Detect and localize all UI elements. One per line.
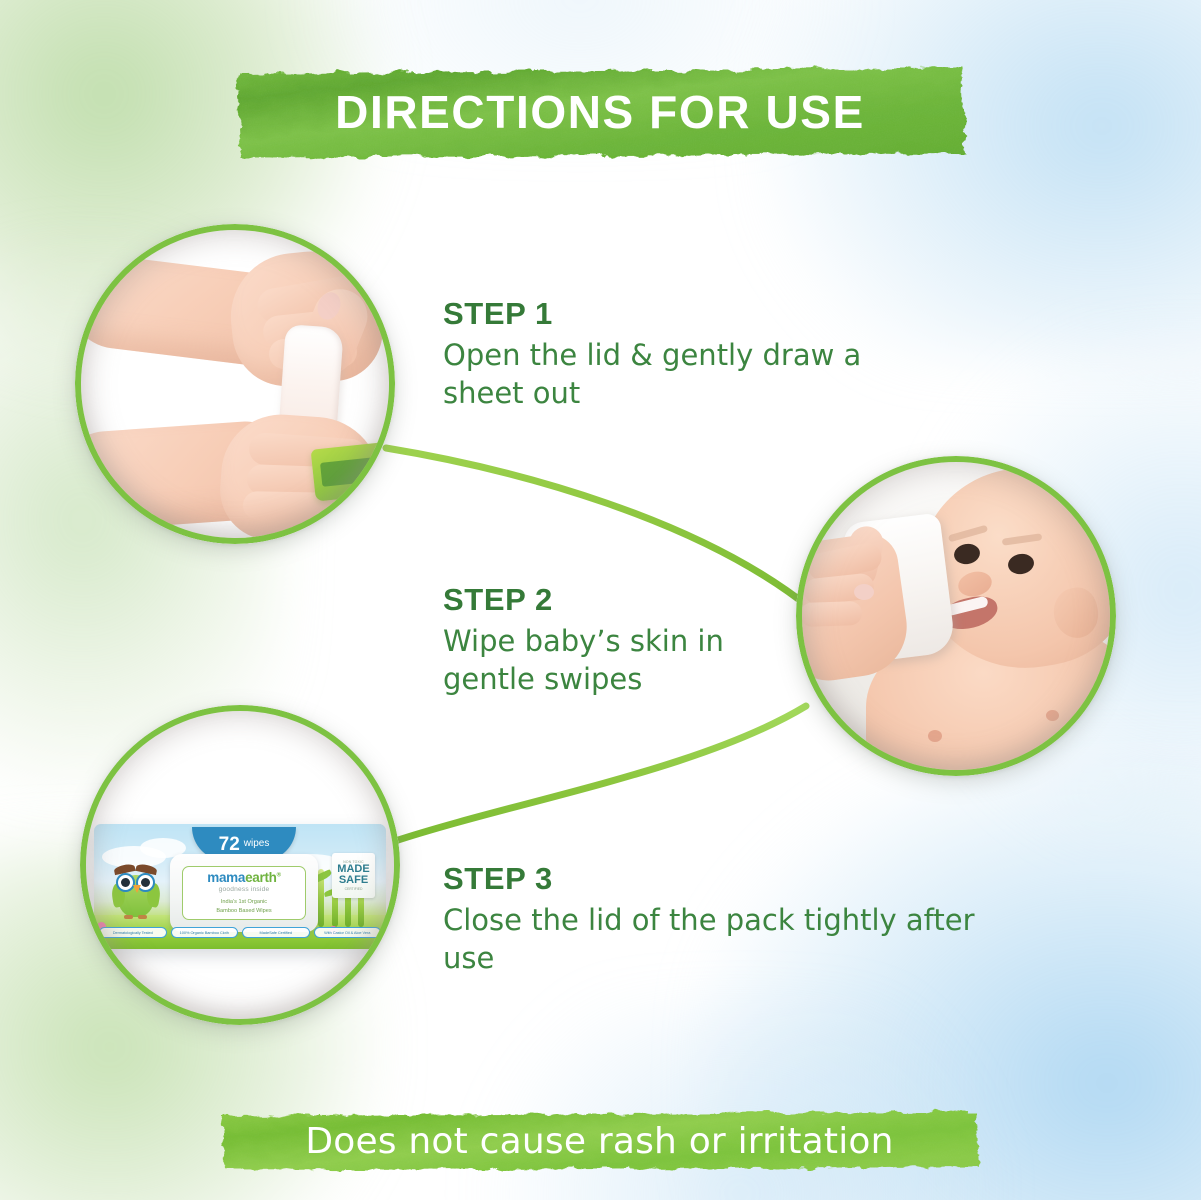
brand-name-first: mama: [207, 870, 245, 885]
green-wipes-pouch-shape: [311, 438, 389, 501]
brand-logo: mamaearth®: [207, 871, 280, 885]
made-safe-line2: SAFE: [339, 875, 368, 886]
registered-mark: ®: [277, 873, 281, 879]
step3-photo: 72 wipes: [86, 711, 394, 1019]
page-title: DIRECTIONS FOR USE: [335, 85, 865, 139]
step1-photo: [81, 230, 389, 538]
made-safe-line1: MADE: [337, 864, 369, 875]
claim-pill: 100% Organic Bamboo Cloth: [171, 927, 239, 938]
step3-text-block: STEP 3 Close the lid of the pack tightly…: [443, 862, 983, 978]
step2-title: STEP 2: [443, 583, 803, 618]
claim-pill: Dermatologically Tested: [99, 927, 167, 938]
step1-title: STEP 1: [443, 297, 923, 332]
wipe-count-number: 72: [219, 835, 240, 854]
pack-label: mamaearth® goodness inside India’s 1st O…: [182, 866, 306, 920]
footer-claim-text: Does not cause rash or irritation: [305, 1121, 893, 1162]
claim-pill-row: Dermatologically Tested 100% Organic Bam…: [99, 927, 381, 938]
product-descriptor-line1: India’s 1st Organic: [221, 899, 267, 905]
product-descriptor-line2: Bamboo Based Wipes: [216, 908, 271, 914]
brand-name-second: earth: [245, 870, 277, 885]
brand-tagline: goodness inside: [219, 886, 270, 893]
footer-banner: Does not cause rash or irritation: [216, 1108, 983, 1174]
pack-lid: mamaearth® goodness inside India’s 1st O…: [170, 854, 318, 932]
connector-step2-step3: [392, 706, 806, 842]
made-safe-bottom-text: CERTIFIED: [345, 887, 363, 891]
step3-title: STEP 3: [443, 862, 983, 897]
step1-image-circle: [75, 224, 395, 544]
made-safe-badge: NON TOXIC MADE SAFE CERTIFIED: [332, 853, 375, 898]
baby-torso-detail: [928, 730, 942, 742]
step1-text-block: STEP 1 Open the lid & gently draw a shee…: [443, 297, 923, 413]
header-banner: DIRECTIONS FOR USE: [231, 62, 969, 162]
step3-description: Close the lid of the pack tightly after …: [443, 901, 983, 978]
product-descriptor: India’s 1st Organic Bamboo Based Wipes: [216, 898, 271, 915]
finger-shape: [802, 601, 862, 627]
step1-description: Open the lid & gently draw a sheet out: [443, 336, 923, 413]
product-pack: 72 wipes: [94, 824, 386, 949]
claim-pill: MadeSafe Certified: [242, 927, 310, 938]
wipe-count-unit: wipes: [244, 839, 270, 849]
step3-image-circle: 72 wipes: [80, 705, 400, 1025]
claim-pill: With Castor Oil & Aloe Vera: [314, 927, 382, 938]
step2-photo: [802, 462, 1110, 770]
step2-description: Wipe baby’s skin in gentle swipes: [443, 622, 803, 699]
infographic-canvas: DIRECTIONS FOR USE: [0, 0, 1201, 1200]
fingernail-shape: [854, 584, 874, 600]
baby-torso-detail: [1046, 710, 1059, 721]
owl-mascot-icon: [112, 863, 160, 919]
step2-text-block: STEP 2 Wipe baby’s skin in gentle swipes: [443, 583, 803, 699]
step2-image-circle: [796, 456, 1116, 776]
